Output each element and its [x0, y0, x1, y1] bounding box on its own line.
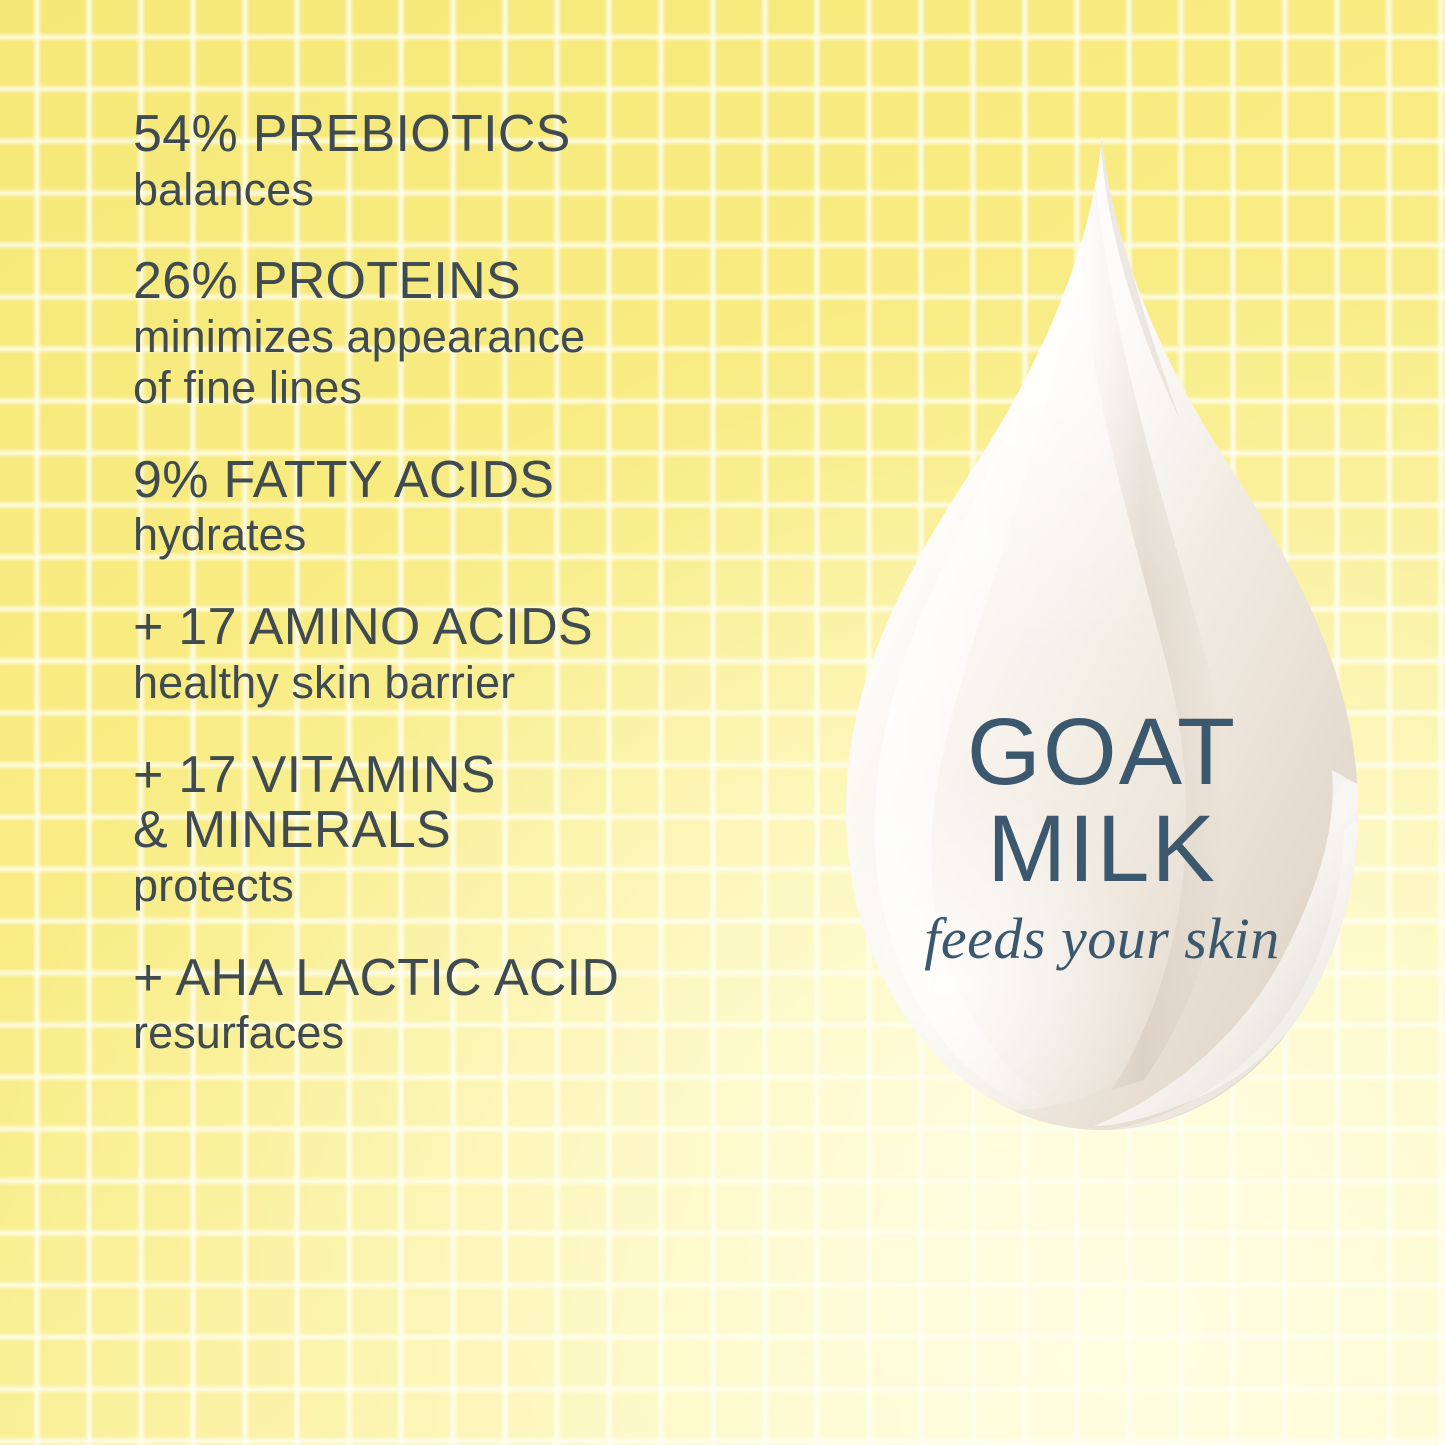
droplet-title-line-2: MILK [812, 803, 1392, 896]
benefit-subtext: minimizes appearance of fine lines [133, 312, 833, 414]
benefits-list: 54% PREBIOTICS balances 26% PROTEINS min… [133, 107, 833, 1059]
droplet-tagline: feeds your skin [812, 910, 1392, 968]
benefit-subtext: protects [133, 861, 833, 912]
benefit-item-amino-acids: + 17 AMINO ACIDS healthy skin barrier [133, 600, 833, 708]
benefit-item-aha-lactic-acid: + AHA LACTIC ACID resurfaces [133, 951, 833, 1059]
milk-droplet-icon [812, 130, 1392, 1150]
milk-droplet: GOAT MILK feeds your skin [812, 130, 1392, 1150]
benefit-item-proteins: 26% PROTEINS minimizes appearance of fin… [133, 254, 833, 413]
benefit-headline: + 17 AMINO ACIDS [133, 600, 833, 656]
product-benefits-infographic: 54% PREBIOTICS balances 26% PROTEINS min… [0, 0, 1445, 1445]
benefit-subtext: hydrates [133, 510, 833, 561]
benefit-item-fatty-acids: 9% FATTY ACIDS hydrates [133, 453, 833, 561]
droplet-top-gloss [852, 130, 1272, 730]
benefit-headline: + AHA LACTIC ACID [133, 951, 833, 1007]
benefit-subtext: balances [133, 165, 833, 216]
benefit-subtext: resurfaces [133, 1008, 833, 1059]
benefit-headline: 26% PROTEINS [133, 254, 833, 310]
benefit-headline: + 17 VITAMINS & MINERALS [133, 748, 833, 859]
benefit-item-vitamins-minerals: + 17 VITAMINS & MINERALS protects [133, 748, 833, 912]
benefit-headline: 9% FATTY ACIDS [133, 453, 833, 509]
droplet-title-line-1: GOAT [812, 706, 1392, 799]
benefit-subtext: healthy skin barrier [133, 658, 833, 709]
droplet-label-group: GOAT MILK feeds your skin [812, 706, 1392, 968]
benefit-item-prebiotics: 54% PREBIOTICS balances [133, 107, 833, 215]
benefit-headline: 54% PREBIOTICS [133, 107, 833, 163]
